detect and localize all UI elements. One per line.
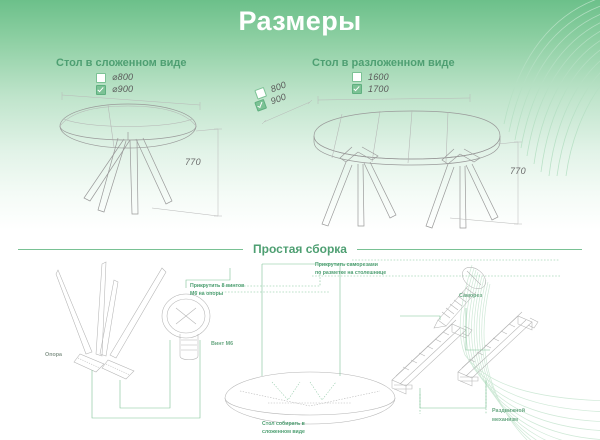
assembly-section-title: Простая сборка xyxy=(243,242,357,256)
note-fold: Стол собирать в сложенном виде xyxy=(262,421,305,437)
checkbox-unchecked-icon[interactable] xyxy=(352,72,362,82)
option-length-1600[interactable]: 1600 xyxy=(352,72,389,82)
option-diameter-800[interactable]: ⌀800 xyxy=(96,72,133,83)
note-screws-line-1: Прикрутить саморезами xyxy=(315,262,378,268)
option-diameter-800-label: ⌀800 xyxy=(112,72,133,83)
folded-table-drawing xyxy=(40,86,260,226)
unfolded-height-dimension: 770 xyxy=(510,166,526,176)
note-bolts-line-2: М6 на опоры xyxy=(190,291,223,297)
assembly-connector-lines xyxy=(92,264,490,418)
unfolded-table-drawing xyxy=(262,84,552,229)
note-fold-line-2: сложенном виде xyxy=(262,429,305,435)
note-screws-line-2: по разметке на столешнице xyxy=(315,270,386,276)
note-bolts: Прикрутить 8 винтов М6 на опоры xyxy=(190,283,244,299)
divider-rule-right xyxy=(357,249,582,250)
checkbox-unchecked-icon[interactable] xyxy=(96,73,106,83)
folded-height-dimension: 770 xyxy=(185,157,201,167)
part-label-mechanism-line-2: механизм xyxy=(492,417,518,423)
sliding-mechanism-drawing xyxy=(392,312,538,394)
assembly-section-divider: Простая сборка xyxy=(0,240,600,258)
note-fold-line-1: Стол собирать в xyxy=(262,421,305,427)
note-bolts-line-1: Прикрутить 8 винтов xyxy=(190,283,244,289)
part-label-mechanism: Раздвижной механизм xyxy=(492,407,525,424)
note-screws: Прикрутить саморезами по разметке на сто… xyxy=(315,262,386,278)
part-label-screw: Саморез xyxy=(459,293,482,299)
folded-table-small-drawing xyxy=(225,372,395,424)
bolt-part-drawing xyxy=(162,294,210,360)
part-label-mechanism-line-1: Раздвижной xyxy=(492,408,525,414)
part-label-bolt: Винт М6 xyxy=(211,341,233,347)
part-label-leg: Опора xyxy=(45,352,62,358)
divider-rule-left xyxy=(18,249,243,250)
folded-table-title: Стол в сложенном виде xyxy=(56,57,186,69)
dimensions-infographic-page: Размеры Стол в сложенном виде ⌀800 ⌀900 xyxy=(0,0,600,440)
unfolded-table-title: Стол в разложенном виде xyxy=(312,57,455,69)
page-title: Размеры xyxy=(0,6,600,37)
leg-part-drawing xyxy=(56,262,166,379)
option-length-1600-label: 1600 xyxy=(368,72,389,82)
